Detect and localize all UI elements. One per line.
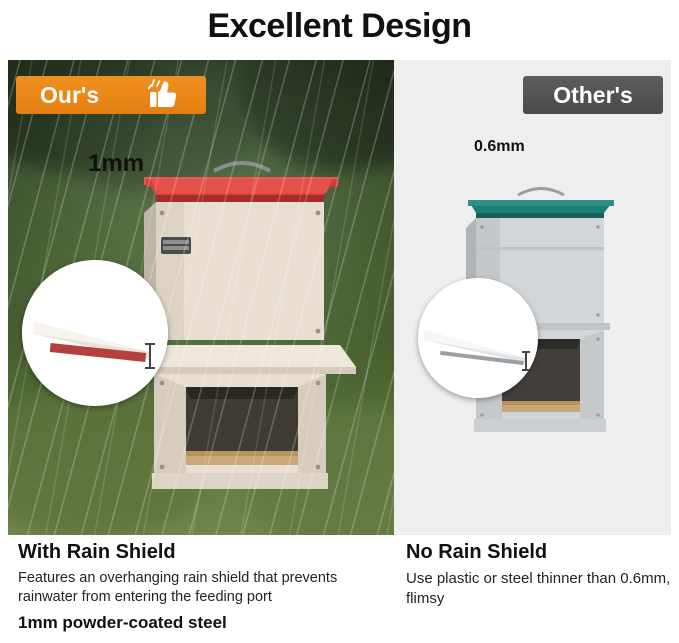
magnifier-other — [418, 278, 538, 398]
caption-ours-body: Features an overhanging rain shield that… — [18, 569, 394, 607]
captions-row: With Rain Shield Features an overhanging… — [0, 540, 679, 643]
caption-other-body: Use plastic or steel thinner than 0.6mm,… — [406, 569, 679, 610]
badge-ours: Our's — [16, 76, 206, 114]
panel-other: 0.6mm Other's — [394, 60, 671, 535]
caption-other-heading: No Rain Shield — [406, 540, 679, 565]
caption-ours-footer: 1mm powder-coated steel — [18, 613, 394, 633]
infographic-page: Excellent Design — [0, 0, 679, 643]
thumbs-up-icon — [148, 78, 178, 116]
caption-other: No Rain Shield Use plastic or steel thin… — [394, 540, 679, 643]
magnifier-ours — [22, 260, 168, 406]
badge-ours-label: Our's — [40, 82, 99, 109]
page-title: Excellent Design — [0, 0, 679, 45]
badge-other: Other's — [523, 76, 663, 114]
badge-other-label: Other's — [553, 82, 633, 109]
magnifier-other-label: 0.6mm — [474, 138, 525, 156]
caption-ours-heading: With Rain Shield — [18, 540, 394, 565]
caption-ours: With Rain Shield Features an overhanging… — [0, 540, 394, 643]
magnifier-ours-label: 1mm — [88, 150, 144, 178]
comparison-container: 1mm Our's — [8, 60, 671, 535]
panel-ours: 1mm Our's — [8, 60, 394, 535]
